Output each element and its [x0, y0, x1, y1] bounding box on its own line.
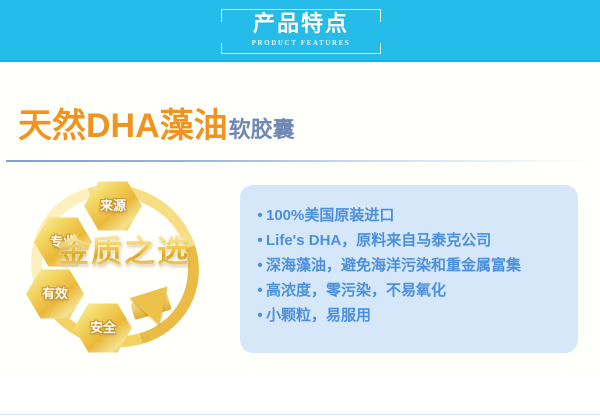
- feature-text: 高浓度，零污染，不易氧化: [266, 278, 446, 303]
- bullet-icon: •: [254, 203, 266, 228]
- feature-item: • 深海藻油，避免海洋污染和重金属富集: [254, 253, 564, 278]
- feature-text: 100%美国原装进口: [266, 203, 394, 228]
- product-title-suffix: 软胶囊: [229, 116, 295, 144]
- feature-text: Life's DHA，原料来自马泰克公司: [266, 228, 491, 253]
- page-bottom-rule: [0, 414, 600, 415]
- feature-item: • Life's DHA，原料来自马泰克公司: [254, 228, 564, 253]
- emblem-center-text: 金质之选: [58, 234, 234, 270]
- bullet-icon: •: [254, 303, 266, 328]
- hexagon-label-safe: 安全: [90, 321, 116, 335]
- product-title: 天然DHA藻油 软胶囊: [18, 106, 295, 146]
- section-header-banner: 产品特点 PRODUCT FEATURES: [0, 0, 600, 62]
- bullet-icon: •: [254, 253, 266, 278]
- bullet-icon: •: [254, 228, 266, 253]
- banner-title-cn: 产品特点: [221, 11, 381, 37]
- title-divider-rule: [6, 160, 594, 162]
- hexagon-label-effective: 有效: [42, 287, 68, 301]
- product-feature-page: 产品特点 PRODUCT FEATURES 天然DHA藻油 软胶囊 来源 专业 …: [0, 0, 600, 420]
- gold-quality-emblem: 来源 专业 有效 安全 金质之选: [12, 178, 230, 358]
- feature-item: • 100%美国原装进口: [254, 203, 564, 228]
- hexagon-label-source: 来源: [100, 199, 126, 213]
- feature-item: • 高浓度，零污染，不易氧化: [254, 278, 564, 303]
- bullet-icon: •: [254, 278, 266, 303]
- feature-text: 深海藻油，避免海洋污染和重金属富集: [266, 253, 521, 278]
- product-title-main: 天然DHA藻油: [18, 106, 228, 146]
- feature-list-panel: • 100%美国原装进口 • Life's DHA，原料来自马泰克公司 • 深海…: [240, 185, 578, 353]
- feature-item: • 小颗粒，易服用: [254, 303, 564, 328]
- feature-text: 小颗粒，易服用: [266, 303, 371, 328]
- banner-title-en: PRODUCT FEATURES: [221, 39, 381, 48]
